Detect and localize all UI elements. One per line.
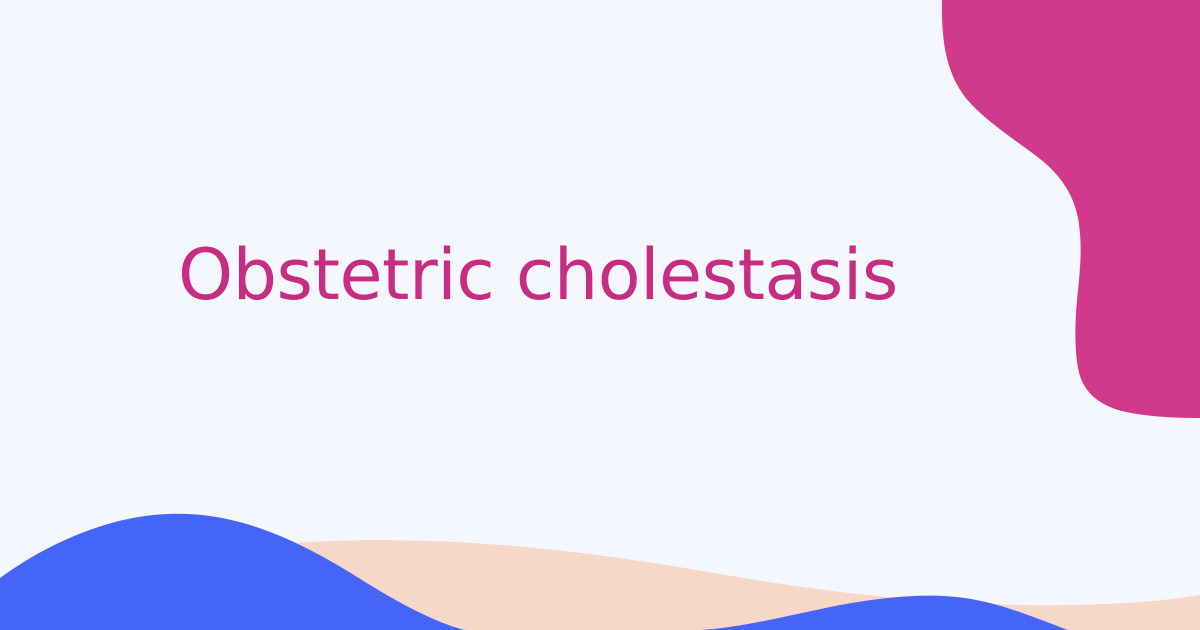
page-title: Obstetric cholestasis	[178, 237, 898, 314]
title-container: Obstetric cholestasis	[0, 0, 1200, 630]
banner-card: Obstetric cholestasis	[0, 0, 1200, 630]
